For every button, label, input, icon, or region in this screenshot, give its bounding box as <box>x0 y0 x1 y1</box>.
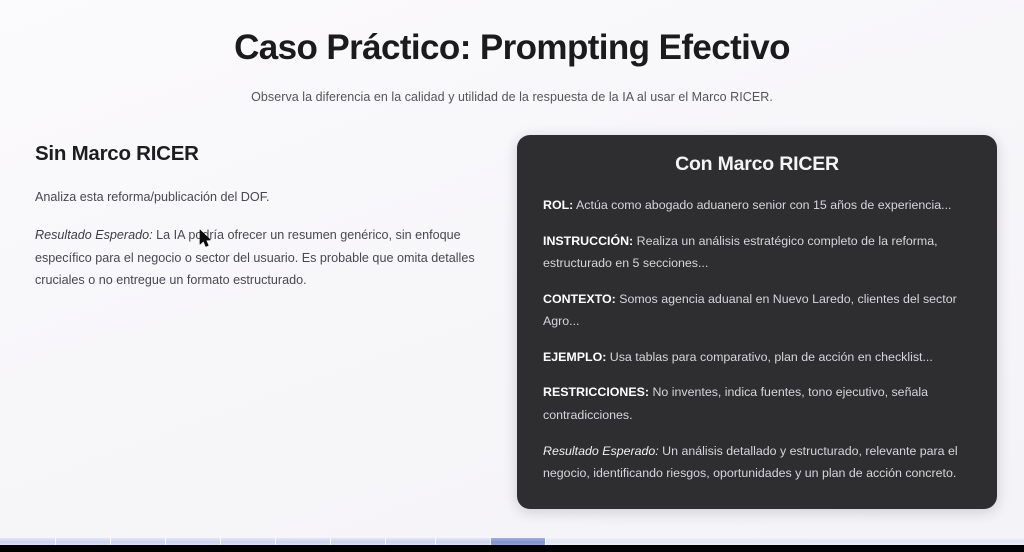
progress-fill <box>0 538 545 545</box>
progress-tick <box>110 538 111 545</box>
plain-prompt-text: Analiza esta reforma/publicación del DOF… <box>35 186 495 208</box>
ricer-item-text: Actúa como abogado aduanero senior con 1… <box>573 198 951 212</box>
ricer-item-rol: ROL: Actúa como abogado aduanero senior … <box>543 194 971 217</box>
column-sin-marco-ricer: Sin Marco RICER Analiza esta reforma/pub… <box>35 142 495 292</box>
slide-header: Caso Práctico: Prompting Efectivo Observ… <box>0 0 1024 104</box>
ricer-item-text: Usa tablas para comparativo, plan de acc… <box>606 350 932 364</box>
ricer-item-label: INSTRUCCIÓN: <box>543 234 633 248</box>
plain-outcome-paragraph: Resultado Esperado: La IA podría ofrecer… <box>35 224 495 291</box>
card-heading: Con Marco RICER <box>543 153 971 176</box>
ricer-outcome-label: Resultado Esperado: <box>543 444 659 458</box>
ricer-item-label: CONTEXTO: <box>543 292 616 306</box>
screen-bezel <box>0 545 1024 552</box>
slide-progress-bar[interactable] <box>0 538 1024 545</box>
progress-tick <box>330 538 331 545</box>
progress-tick <box>490 538 491 545</box>
ricer-item-contexto: CONTEXTO: Somos agencia aduanal en Nuevo… <box>543 288 971 333</box>
progress-current-segment <box>490 538 545 545</box>
ricer-item-label: ROL: <box>543 198 573 212</box>
progress-tick <box>165 538 166 545</box>
slide-subtitle: Observa la diferencia en la calidad y ut… <box>0 90 1024 104</box>
ricer-item-label: EJEMPLO: <box>543 350 606 364</box>
column-con-marco-ricer-card: Con Marco RICER ROL: Actúa como abogado … <box>517 135 997 509</box>
ricer-item-restricciones: RESTRICCIONES: No inventes, indica fuent… <box>543 381 971 426</box>
ricer-item-label: RESTRICCIONES: <box>543 385 649 399</box>
page-title: Caso Práctico: Prompting Efectivo <box>0 28 1024 68</box>
plain-outcome-label: Resultado Esperado: <box>35 228 153 242</box>
progress-tick <box>545 538 546 545</box>
presentation-slide: Caso Práctico: Prompting Efectivo Observ… <box>0 0 1024 545</box>
ricer-item-ejemplo: EJEMPLO: Usa tablas para comparativo, pl… <box>543 346 971 369</box>
progress-tick <box>385 538 386 545</box>
progress-tick <box>435 538 436 545</box>
progress-tick <box>55 538 56 545</box>
ricer-outcome-paragraph: Resultado Esperado: Un análisis detallad… <box>543 440 971 485</box>
progress-tick <box>220 538 221 545</box>
progress-tick <box>275 538 276 545</box>
plain-column-heading: Sin Marco RICER <box>35 142 495 166</box>
ricer-item-instruccion: INSTRUCCIÓN: Realiza un análisis estraté… <box>543 230 971 275</box>
comparison-columns: Sin Marco RICER Analiza esta reforma/pub… <box>0 130 1024 520</box>
